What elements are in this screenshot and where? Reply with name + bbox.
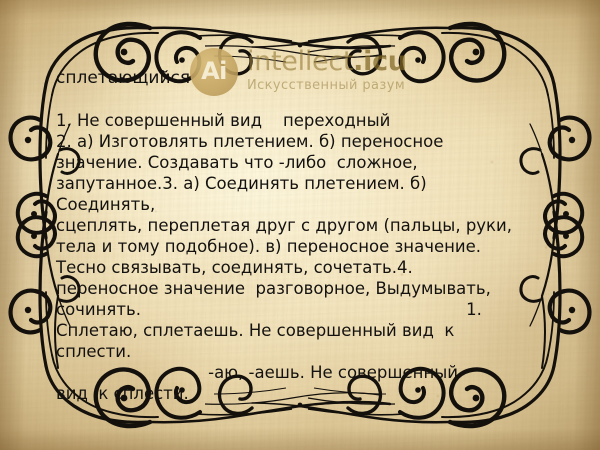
watermark-title: intellect.icu (247, 48, 407, 76)
watermark-text-group: intellect.icu Искусственный разум (247, 48, 407, 93)
watermark-subtitle: Искусственный разум (247, 78, 407, 93)
intellect-logo-icon: Ai (190, 48, 238, 96)
watermark-title-bold: .icu (353, 46, 407, 77)
logo-monogram: Ai (190, 48, 238, 96)
headword: сплетающийся (56, 68, 190, 88)
watermark-title-light: intellect (247, 46, 353, 77)
watermark: Ai intellect.icu Искусственный разум (190, 48, 407, 96)
definition-text: 1. Не совершенный вид переходный 2. а) И… (56, 110, 516, 404)
dictionary-card: Ai intellect.icu Искусственный разум спл… (0, 0, 600, 450)
